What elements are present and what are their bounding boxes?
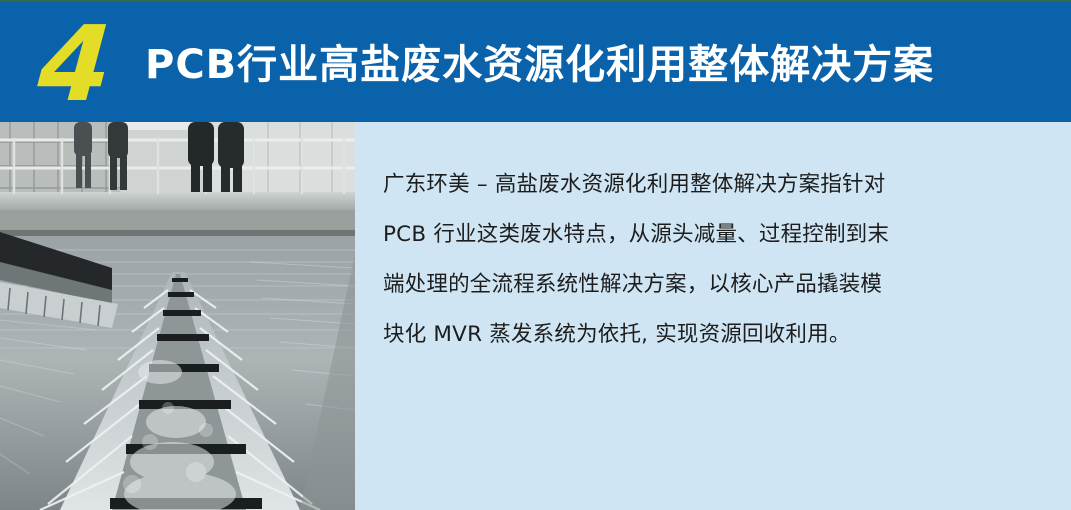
slide-root: 4 PCB行业高盐废水资源化利用整体解决方案	[0, 0, 1071, 510]
header-banner: 4 PCB行业高盐废水资源化利用整体解决方案	[0, 0, 1071, 122]
content-area: 广东环美 – 高盐废水资源化利用整体解决方案指针对 PCB 行业这类废水特点，从…	[0, 122, 1071, 510]
description-panel: 广东环美 – 高盐废水资源化利用整体解决方案指针对 PCB 行业这类废水特点，从…	[355, 122, 1071, 510]
section-number: 4	[21, 14, 128, 114]
description-text: 广东环美 – 高盐废水资源化利用整体解决方案指针对 PCB 行业这类废水特点，从…	[383, 160, 1043, 360]
photo-illustration	[0, 122, 355, 510]
page-title: PCB行业高盐废水资源化利用整体解决方案	[145, 0, 934, 122]
wastewater-plant-photo	[0, 122, 355, 510]
